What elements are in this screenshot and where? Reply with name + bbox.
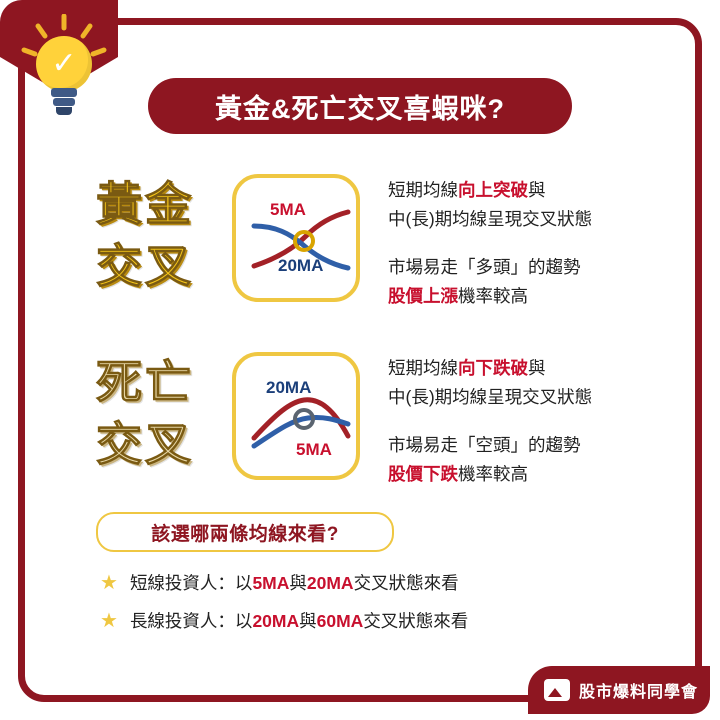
golden-text-4b: 機率較高: [458, 286, 528, 306]
death-text-1a: 短期均線: [388, 358, 458, 378]
section-label-death-line1: 死亡: [96, 356, 194, 408]
lightbulb-check-icon: ✓: [18, 14, 114, 118]
bullet1-p0: 長線投資人：以: [130, 611, 253, 631]
death-text-line3: 市場易走「空頭」的趨勢: [388, 431, 581, 460]
section-label-death-line2: 交叉: [96, 418, 194, 470]
bullet0-p1: 5MA: [252, 573, 289, 593]
bullet-long-term-text: 長線投資人：以20MA與60MA交叉狀態來看: [130, 608, 468, 633]
golden-text-line4: 股價上漲機率較高: [388, 282, 528, 311]
bullet1-p4: 交叉狀態來看: [363, 611, 468, 631]
bullet0-p0: 短線投資人：以: [130, 573, 253, 593]
bullet0-p3: 20MA: [307, 573, 354, 593]
death-text-line1: 短期均線向下跌破與: [388, 354, 546, 383]
bullet-short-term-text: 短線投資人：以5MA與20MA交叉狀態來看: [130, 570, 459, 595]
death-text-line4: 股價下跌機率較高: [388, 460, 528, 489]
golden-text-line2: 中(長)期均線呈現交叉狀態: [388, 205, 592, 234]
bulb-neck: [51, 88, 77, 97]
golden-chart-label-20ma: 20MA: [278, 256, 323, 276]
golden-cross-chart: 5MA 20MA: [232, 174, 360, 302]
death-chart-label-5ma: 5MA: [296, 440, 332, 460]
bullet0-p2: 與: [289, 573, 307, 593]
golden-chart-label-5ma: 5MA: [270, 200, 306, 220]
poster-page: ✓ 黃金&死亡交叉喜蝦咪? 黃金 交叉 5MA 20MA 短期均線向上突破與 中…: [0, 0, 720, 720]
star-icon: ★: [100, 611, 118, 631]
bullet1-p3: 60MA: [317, 611, 364, 631]
bulb-neck-lower: [53, 98, 75, 106]
bullet-long-term: ★ 長線投資人：以20MA與60MA交叉狀態來看: [100, 608, 468, 633]
bulb-check-glyph: ✓: [36, 36, 92, 92]
bulb-base: [56, 107, 72, 115]
bullet-short-term: ★ 短線投資人：以5MA與20MA交叉狀態來看: [100, 570, 459, 595]
footer-brand: 股市爆料同學會: [528, 666, 710, 714]
death-text-line2: 中(長)期均線呈現交叉狀態: [388, 383, 592, 412]
footer-brand-text: 股市爆料同學會: [579, 678, 698, 702]
golden-text-line3: 市場易走「多頭」的趨勢: [388, 253, 581, 282]
bullet1-p1: 20MA: [252, 611, 299, 631]
question-pill: 該選哪兩條均線來看?: [96, 512, 394, 552]
section-label-golden-line2: 交叉: [96, 240, 194, 292]
page-title: 黃金&死亡交叉喜蝦咪?: [148, 78, 572, 134]
bullet1-p2: 與: [299, 611, 317, 631]
chart-logo-icon: [544, 679, 570, 701]
golden-text-4a: 股價上漲: [388, 286, 458, 306]
star-icon: ★: [100, 573, 118, 593]
death-cross-chart: 20MA 5MA: [232, 352, 360, 480]
section-label-golden-line1: 黃金: [96, 178, 194, 230]
golden-text-1b: 向上突破: [458, 180, 528, 200]
golden-text-1c: 與: [528, 180, 546, 200]
bullet0-p4: 交叉狀態來看: [354, 573, 459, 593]
death-chart-label-20ma: 20MA: [266, 378, 311, 398]
death-text-1c: 與: [528, 358, 546, 378]
death-text-4a: 股價下跌: [388, 464, 458, 484]
death-text-4b: 機率較高: [458, 464, 528, 484]
death-text-1b: 向下跌破: [458, 358, 528, 378]
golden-text-1a: 短期均線: [388, 180, 458, 200]
golden-text-line1: 短期均線向上突破與: [388, 176, 546, 205]
